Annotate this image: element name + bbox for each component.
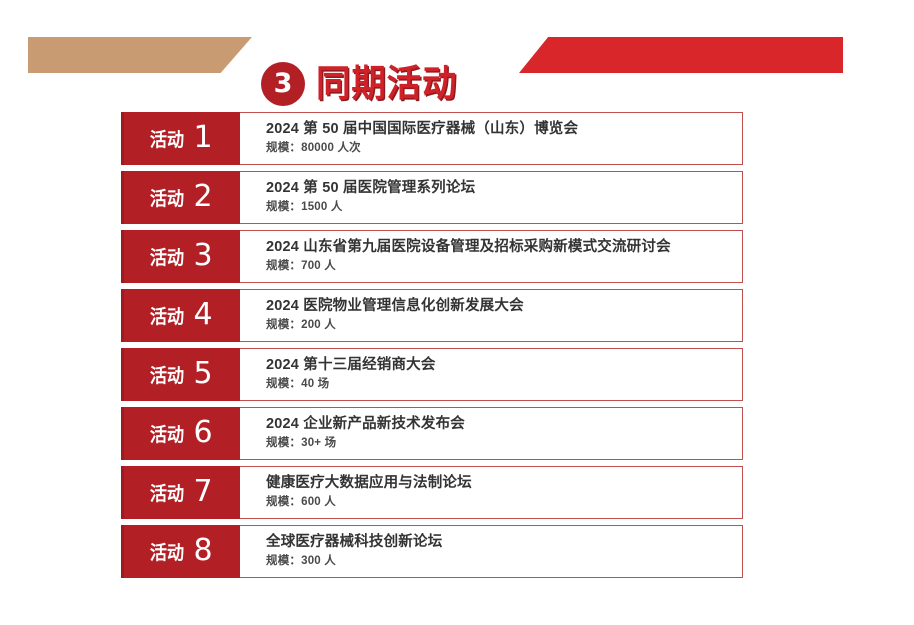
activity-card: 2024 第十三届经销商大会规模：40 场 xyxy=(240,348,743,401)
activity-label-text: 活动 xyxy=(150,479,184,506)
activity-number-label: 活动5 xyxy=(121,348,240,401)
activity-row[interactable]: 活动42024 医院物业管理信息化创新发展大会规模：200 人 xyxy=(121,289,743,342)
activity-scale: 规模：700 人 xyxy=(266,258,742,274)
activity-title: 2024 医院物业管理信息化创新发展大会 xyxy=(266,297,742,316)
activity-label-text: 活动 xyxy=(150,361,184,388)
activity-number-label: 活动7 xyxy=(121,466,240,519)
activity-card: 全球医疗器械科技创新论坛规模：300 人 xyxy=(240,525,743,578)
activity-scale: 规模：1500 人 xyxy=(266,199,742,215)
activity-card: 2024 第 50 届中国国际医疗器械（山东）博览会规模：80000 人次 xyxy=(240,112,743,165)
activity-title: 健康医疗大数据应用与法制论坛 xyxy=(266,474,742,493)
activity-scale: 规模：80000 人次 xyxy=(266,140,742,156)
activity-index-number: 8 xyxy=(193,536,212,566)
activity-scale: 规模：600 人 xyxy=(266,494,742,510)
activity-title: 2024 第十三届经销商大会 xyxy=(266,356,742,375)
activity-number-label: 活动1 xyxy=(121,112,240,165)
activity-title: 2024 企业新产品新技术发布会 xyxy=(266,415,742,434)
activity-index-number: 1 xyxy=(193,123,212,153)
activity-title: 2024 第 50 届中国国际医疗器械（山东）博览会 xyxy=(266,120,742,139)
activity-scale: 规模：30+ 场 xyxy=(266,435,742,451)
activity-number-label: 活动4 xyxy=(121,289,240,342)
activity-label-text: 活动 xyxy=(150,302,184,329)
section-number-badge: 3 xyxy=(261,62,305,106)
activity-scale: 规模：200 人 xyxy=(266,317,742,333)
activity-card: 2024 第 50 届医院管理系列论坛规模：1500 人 xyxy=(240,171,743,224)
activity-index-number: 7 xyxy=(193,477,212,507)
section-header: 3 同期活动 xyxy=(0,30,914,82)
activity-number-label: 活动8 xyxy=(121,525,240,578)
activity-title: 全球医疗器械科技创新论坛 xyxy=(266,533,742,552)
activity-title: 2024 山东省第九届医院设备管理及招标采购新模式交流研讨会 xyxy=(266,238,742,257)
activity-label-text: 活动 xyxy=(150,420,184,447)
activity-label-text: 活动 xyxy=(150,184,184,211)
activity-label-text: 活动 xyxy=(150,125,184,152)
activity-index-number: 3 xyxy=(193,241,212,271)
activity-list: 活动12024 第 50 届中国国际医疗器械（山东）博览会规模：80000 人次… xyxy=(121,112,743,584)
activity-card: 2024 山东省第九届医院设备管理及招标采购新模式交流研讨会规模：700 人 xyxy=(240,230,743,283)
activity-card: 2024 医院物业管理信息化创新发展大会规模：200 人 xyxy=(240,289,743,342)
activity-row[interactable]: 活动22024 第 50 届医院管理系列论坛规模：1500 人 xyxy=(121,171,743,224)
activity-label-text: 活动 xyxy=(150,538,184,565)
activity-index-number: 4 xyxy=(193,300,212,330)
activity-number-label: 活动3 xyxy=(121,230,240,283)
activity-index-number: 5 xyxy=(193,359,212,389)
activity-index-number: 6 xyxy=(193,418,212,448)
activity-scale: 规模：40 场 xyxy=(266,376,742,392)
activity-label-text: 活动 xyxy=(150,243,184,270)
activity-number-label: 活动6 xyxy=(121,407,240,460)
activity-row[interactable]: 活动62024 企业新产品新技术发布会规模：30+ 场 xyxy=(121,407,743,460)
activity-scale: 规模：300 人 xyxy=(266,553,742,569)
activity-number-label: 活动2 xyxy=(121,171,240,224)
header-right-decor-bar xyxy=(519,37,843,73)
activity-row[interactable]: 活动52024 第十三届经销商大会规模：40 场 xyxy=(121,348,743,401)
page-title: 同期活动 xyxy=(316,60,457,108)
header-left-decor-bar xyxy=(28,37,252,73)
activity-row[interactable]: 活动8全球医疗器械科技创新论坛规模：300 人 xyxy=(121,525,743,578)
activity-row[interactable]: 活动7健康医疗大数据应用与法制论坛规模：600 人 xyxy=(121,466,743,519)
activity-row[interactable]: 活动12024 第 50 届中国国际医疗器械（山东）博览会规模：80000 人次 xyxy=(121,112,743,165)
activity-card: 2024 企业新产品新技术发布会规模：30+ 场 xyxy=(240,407,743,460)
activity-row[interactable]: 活动32024 山东省第九届医院设备管理及招标采购新模式交流研讨会规模：700 … xyxy=(121,230,743,283)
activity-card: 健康医疗大数据应用与法制论坛规模：600 人 xyxy=(240,466,743,519)
activity-index-number: 2 xyxy=(193,182,212,212)
activity-title: 2024 第 50 届医院管理系列论坛 xyxy=(266,179,742,198)
